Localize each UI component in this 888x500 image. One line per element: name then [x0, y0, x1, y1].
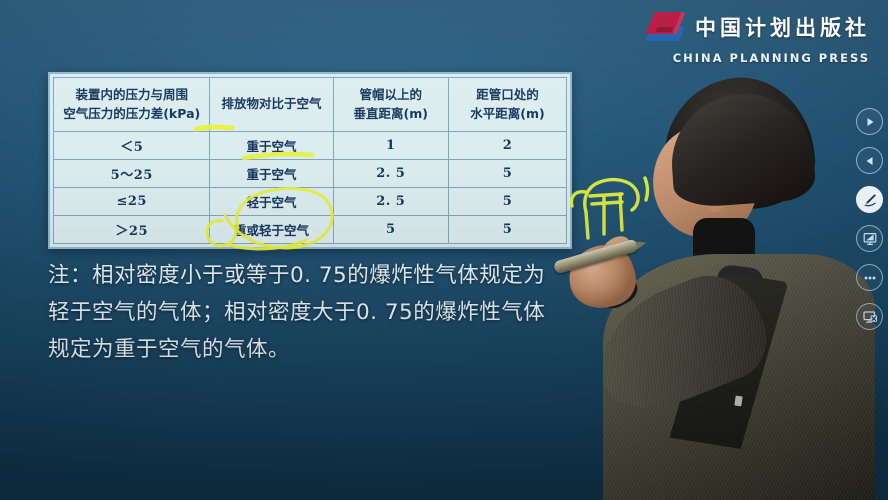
whiteboard-icon — [862, 231, 878, 247]
more-options-button[interactable] — [856, 264, 883, 291]
book-logo-icon — [646, 9, 686, 47]
back-icon — [864, 155, 876, 167]
pen-tool-button[interactable] — [856, 186, 883, 213]
whiteboard-button[interactable] — [856, 225, 883, 252]
column-header-pressure-difference: 装置内的压力与周围 空气压力的压力差(kPa) — [54, 78, 210, 132]
note-line: 规定为重于空气的气体。 — [48, 332, 588, 369]
note-line: 轻于空气的气体；相对密度大于0. 75的爆炸性气体 — [48, 295, 588, 332]
cell-discharge: 重于空气 — [210, 132, 333, 160]
cell-horizontal: 5 — [448, 160, 566, 188]
cell-vertical: 5 — [333, 216, 448, 244]
table-row: ＜5 重于空气 1 2 — [54, 132, 567, 160]
header-line-1: 装置内的压力与周围 — [57, 86, 206, 104]
presenter-lapel-pin — [734, 396, 742, 407]
table-row: ≤25 轻于空气 2. 5 5 — [54, 188, 567, 216]
video-stage: 中国计划出版社 CHINA PLANNING PRESS 装置内的压力与周围 — [0, 0, 888, 500]
cell-pressure: 5～25 — [54, 160, 210, 188]
player-toolbar[interactable] — [856, 108, 883, 330]
cell-pressure: ≤25 — [54, 188, 210, 216]
column-header-vertical-distance: 管帽以上的 垂直距离(m) — [333, 78, 448, 132]
screen-close-icon — [862, 309, 878, 325]
slide-table-container: 装置内的压力与周围 空气压力的压力差(kPa) 排放物对比于空气 管帽以上的 垂… — [48, 72, 572, 249]
cell-discharge: 轻于空气 — [210, 188, 333, 216]
header-line-2: 垂直距离(m) — [337, 105, 445, 123]
header-line-2: 水平距离(m) — [452, 105, 563, 123]
note-line: 注：相对密度小于或等于0. 75的爆炸性气体规定为 — [48, 258, 588, 295]
play-icon — [864, 116, 876, 128]
cell-vertical: 1 — [333, 132, 448, 160]
table-row: ＞25 重或轻于空气 5 5 — [54, 216, 567, 244]
cell-discharge: 重于空气 — [210, 160, 333, 188]
presenter-figure — [575, 78, 875, 500]
cell-horizontal: 5 — [448, 188, 566, 216]
cell-pressure: ＜5 — [54, 132, 210, 160]
play-previous-button[interactable] — [856, 147, 883, 174]
play-next-button[interactable] — [856, 108, 883, 135]
logo-name-cn: 中国计划出版社 — [695, 18, 870, 39]
emission-distance-table: 装置内的压力与周围 空气压力的压力差(kPa) 排放物对比于空气 管帽以上的 垂… — [53, 77, 567, 244]
header-line-2: 空气压力的压力差(kPa) — [57, 105, 206, 123]
cell-vertical: 2. 5 — [333, 188, 448, 216]
close-screen-button[interactable] — [856, 303, 883, 330]
header-line-1: 距管口处的 — [452, 86, 563, 104]
cell-pressure: ＞25 — [54, 216, 210, 244]
cell-discharge: 重或轻于空气 — [210, 216, 333, 244]
table-row: 5～25 重于空气 2. 5 5 — [54, 160, 567, 188]
column-header-discharge-vs-air: 排放物对比于空气 — [210, 78, 333, 132]
cell-horizontal: 5 — [448, 216, 566, 244]
column-header-horizontal-distance: 距管口处的 水平距离(m) — [448, 78, 566, 132]
logo-row: 中国计划出版社 — [646, 9, 870, 47]
pen-icon — [862, 192, 878, 208]
table-header-row: 装置内的压力与周围 空气压力的压力差(kPa) 排放物对比于空气 管帽以上的 垂… — [54, 78, 567, 132]
ellipsis-icon — [862, 270, 878, 286]
header-line-1: 管帽以上的 — [337, 86, 445, 104]
logo-name-en: CHINA PLANNING PRESS — [673, 53, 870, 65]
slide-note: 注：相对密度小于或等于0. 75的爆炸性气体规定为 轻于空气的气体；相对密度大于… — [48, 258, 588, 369]
publisher-logo: 中国计划出版社 CHINA PLANNING PRESS — [646, 9, 870, 65]
cell-vertical: 2. 5 — [333, 160, 448, 188]
cell-horizontal: 2 — [448, 132, 566, 160]
header-line-1: 排放物对比于空气 — [213, 95, 329, 113]
